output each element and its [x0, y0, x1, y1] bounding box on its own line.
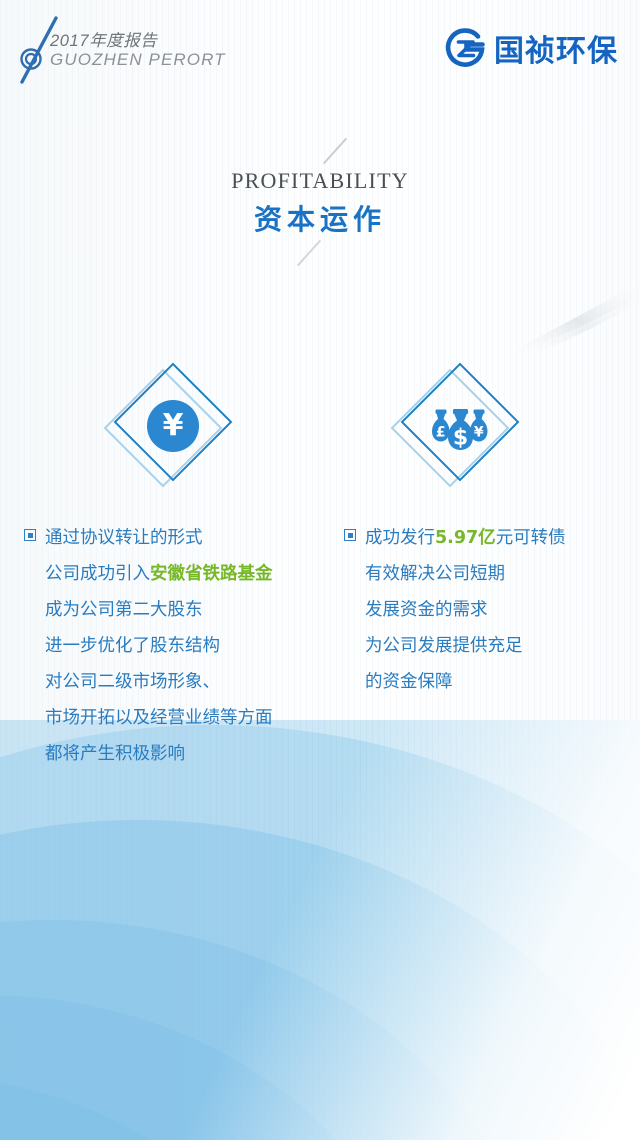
bullet-line: 发展资金的需求	[365, 592, 634, 628]
arc-fade-overlay	[0, 720, 640, 1140]
title-slash-top-icon	[323, 138, 347, 165]
square-bullet-icon	[344, 529, 356, 541]
text-run: 元可转债	[496, 528, 566, 548]
bullet-item: 通过协议转让的形式公司成功引入安徽省铁路基金成为公司第二大股东进一步优化了股东结…	[24, 520, 354, 772]
bullet-line: 成为公司第二大股东	[45, 592, 354, 628]
bullet-line: 都将产生积极影响	[45, 736, 354, 772]
text-run: 有效解决公司短期	[365, 564, 505, 584]
svg-text:£: £	[436, 425, 446, 441]
yen-coin-icon: ¥	[141, 394, 205, 458]
brand-name: 国祯环保	[494, 26, 618, 70]
bullet-line: 公司成功引入安徽省铁路基金	[45, 556, 354, 592]
bullet-line: 进一步优化了股东结构	[45, 628, 354, 664]
report-title-block: 2017年度报告 GUOZHEN PERORT	[50, 32, 226, 70]
arc-band-4	[0, 820, 640, 1140]
highlighted-term: 安徽省铁路基金	[150, 564, 273, 584]
bullet-line: 对公司二级市场形象、	[45, 664, 354, 700]
text-run: 通过协议转让的形式	[45, 528, 203, 548]
bullet-lines-left: 通过协议转让的形式公司成功引入安徽省铁路基金成为公司第二大股东进一步优化了股东结…	[45, 520, 354, 772]
text-run: 的资金保障	[365, 672, 453, 692]
ribbon-swoosh-icon	[500, 272, 640, 362]
yen-symbol: ¥	[147, 400, 199, 452]
arc-band-2	[0, 720, 640, 1140]
icon-row: ¥	[0, 360, 640, 500]
bullet-lines-right: 成功发行5.97亿元可转债有效解决公司短期发展资金的需求为公司发展提供充足的资金…	[365, 520, 634, 700]
bullet-column-right: 成功发行5.97亿元可转债有效解决公司短期发展资金的需求为公司发展提供充足的资金…	[344, 520, 634, 700]
arc-band-6	[0, 995, 425, 1140]
text-run: 为公司发展提供充足	[365, 636, 523, 656]
bullet-line: 为公司发展提供充足	[365, 628, 634, 664]
report-title-cn: 2017年度报告	[50, 32, 226, 50]
arc-band-1	[0, 720, 640, 1140]
bullet-item: 成功发行5.97亿元可转债有效解决公司短期发展资金的需求为公司发展提供充足的资金…	[344, 520, 634, 700]
text-run: 都将产生积极影响	[45, 744, 185, 764]
report-title-en: GUOZHEN PERORT	[50, 50, 226, 69]
arc-band-7	[0, 1075, 310, 1140]
text-run: 发展资金的需求	[365, 600, 488, 620]
arc-band-3	[0, 725, 640, 1140]
section-title: PROFITABILITY 资本运作	[0, 168, 640, 238]
title-slash-bottom-icon	[297, 240, 321, 267]
text-run: 进一步优化了股东结构	[45, 636, 220, 656]
icon-group-yen: ¥	[105, 360, 245, 500]
svg-text:¥: ¥	[474, 425, 484, 441]
text-run: 市场开拓以及经营业绩等方面	[45, 708, 273, 728]
highlighted-term: 5.97亿	[435, 528, 496, 548]
svg-text:$: $	[453, 426, 468, 451]
bullet-line: 的资金保障	[365, 664, 634, 700]
page-header: 2017年度报告 GUOZHEN PERORT 国祯环保	[0, 0, 640, 100]
icon-group-money-bags: £ ¥ $	[392, 360, 532, 500]
text-run: 对公司二级市场形象、	[45, 672, 220, 692]
bullet-line: 有效解决公司短期	[365, 556, 634, 592]
section-title-en: PROFITABILITY	[0, 168, 640, 194]
text-run: 成为公司第二大股东	[45, 600, 203, 620]
bullet-line: 市场开拓以及经营业绩等方面	[45, 700, 354, 736]
text-run: 成功发行	[365, 528, 435, 548]
bullet-line: 通过协议转让的形式	[45, 520, 354, 556]
report-page: 2017年度报告 GUOZHEN PERORT 国祯环保 PROFITABILI…	[0, 0, 640, 1140]
arc-band-5	[0, 920, 535, 1140]
section-title-cn: 资本运作	[0, 198, 640, 238]
brand-logo: 国祯环保	[444, 26, 618, 70]
bottom-arc-decoration	[0, 720, 640, 1140]
square-bullet-icon	[24, 529, 36, 541]
bullet-line: 成功发行5.97亿元可转债	[365, 520, 634, 556]
text-run: 公司成功引入	[45, 564, 150, 584]
bullet-column-left: 通过协议转让的形式公司成功引入安徽省铁路基金成为公司第二大股东进一步优化了股东结…	[24, 520, 354, 772]
guozhen-circle-gz-icon	[444, 27, 486, 69]
money-bags-icon: £ ¥ $	[428, 394, 492, 458]
